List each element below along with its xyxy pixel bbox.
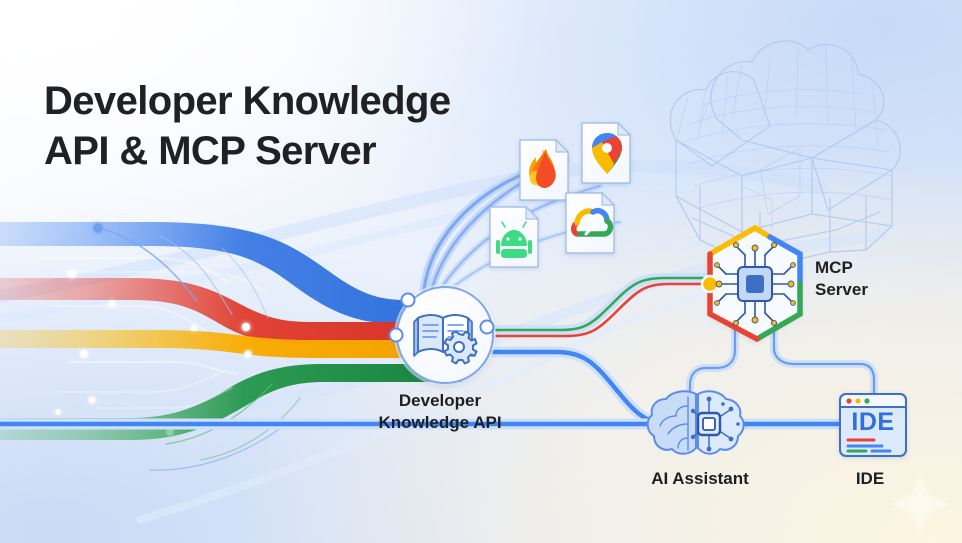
mcp-to-ide-connector [774, 322, 874, 394]
infographic-canvas: IDE Developer KnowledgeAPI & MCP Server … [0, 0, 962, 543]
ribbon-glow-dot [191, 325, 197, 331]
dka-label-line2: Knowledge API [378, 413, 501, 432]
node-port [402, 294, 415, 307]
ai-assistant-label: AI Assistant [600, 468, 800, 490]
mcp-label-line2: Server [815, 280, 868, 299]
developer-knowledge-api-label: DeveloperKnowledge API [340, 390, 540, 434]
window-dot-green [864, 398, 869, 403]
mcp-label-line1: MCP [815, 258, 853, 277]
mcp-server-label: MCPServer [815, 257, 935, 301]
dka-label-line1: Developer [399, 391, 481, 410]
mcp-server-node[interactable] [702, 228, 800, 340]
ide-node[interactable]: IDE [840, 394, 906, 456]
firebase-doc-card[interactable] [520, 140, 568, 200]
doc-cards [490, 123, 630, 267]
ide-window-icon: IDE [840, 394, 906, 456]
ribbon-glow-dot [55, 409, 60, 414]
ide-screen-text: IDE [851, 408, 894, 436]
ai-assistant-node[interactable] [648, 391, 744, 454]
google-maps-doc-card[interactable] [582, 123, 630, 183]
brain-chip-icon [648, 391, 744, 454]
ribbon-glow-dot [89, 397, 96, 404]
ribbon-glow-dot [68, 270, 76, 278]
google-cloud-doc-card[interactable] [566, 193, 614, 253]
node-port [390, 329, 403, 342]
ribbon-glow-dot [109, 301, 115, 307]
ribbon-glow-dot [242, 323, 250, 331]
window-dot-yellow [855, 398, 860, 403]
android-doc-card[interactable] [490, 207, 538, 267]
page-title-line2: API & MCP Server [44, 129, 376, 173]
ide-label: IDE [805, 468, 935, 490]
window-dot-red [846, 398, 851, 403]
page-title: Developer KnowledgeAPI & MCP Server [44, 76, 450, 176]
ribbon-glow-dot [244, 350, 251, 357]
page-title-line1: Developer Knowledge [44, 79, 450, 123]
ribbon-glow-dot [93, 223, 102, 232]
api-to-mcp-connector [496, 278, 712, 336]
ribbon-glow-dot [80, 350, 88, 358]
isometric-cloud-wireframe [670, 41, 900, 268]
node-port [481, 321, 494, 334]
